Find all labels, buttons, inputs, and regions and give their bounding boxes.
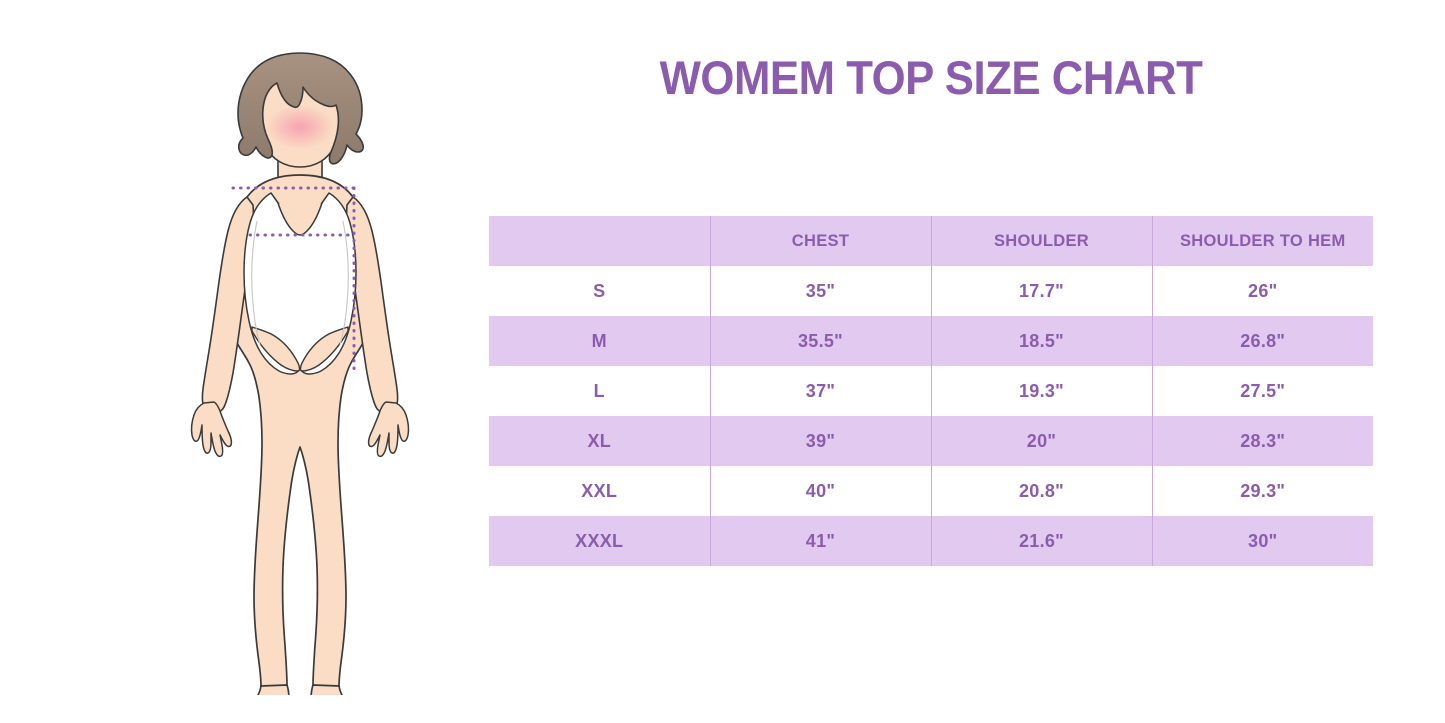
- cell-shoulder: 20.8": [931, 466, 1152, 516]
- header-cell-shoulder-to-hem: SHOULDER TO HEM: [1152, 216, 1373, 266]
- cell-shoulder: 17.7": [931, 266, 1152, 316]
- cell-chest: 39": [710, 416, 931, 466]
- cell-shoulder: 19.3": [931, 366, 1152, 416]
- left-hand-shape: [192, 402, 232, 456]
- size-chart-table-container: CHEST SHOULDER SHOULDER TO HEM S 35" 17.…: [489, 216, 1373, 566]
- header-cell-chest: CHEST: [710, 216, 931, 266]
- right-hand-shape: [369, 402, 409, 456]
- cell-shoulder-to-hem: 26.8": [1152, 316, 1373, 366]
- table-header-row: CHEST SHOULDER SHOULDER TO HEM: [489, 216, 1373, 266]
- cell-size: L: [489, 366, 710, 416]
- table-row: S 35" 17.7" 26": [489, 266, 1373, 316]
- cell-chest: 35.5": [710, 316, 931, 366]
- cell-shoulder-to-hem: 28.3": [1152, 416, 1373, 466]
- cell-chest: 35": [710, 266, 931, 316]
- cell-size: XL: [489, 416, 710, 466]
- figure-panel: SHOULDER CHEST SHOULDER TO HEM: [0, 0, 480, 723]
- cheek-blush: [266, 105, 334, 149]
- table-row: XXL 40" 20.8" 29.3": [489, 466, 1373, 516]
- table-row: XXXL 41" 21.6" 30": [489, 516, 1373, 566]
- right-foot-shape: [311, 685, 357, 695]
- cell-shoulder: 21.6": [931, 516, 1152, 566]
- left-foot-shape: [243, 685, 289, 695]
- cell-size: XXL: [489, 466, 710, 516]
- cell-shoulder-to-hem: 30": [1152, 516, 1373, 566]
- cell-size: M: [489, 316, 710, 366]
- header-cell-shoulder: SHOULDER: [931, 216, 1152, 266]
- header-cell-size: [489, 216, 710, 266]
- cell-shoulder-to-hem: 27.5": [1152, 366, 1373, 416]
- cell-chest: 40": [710, 466, 931, 516]
- female-body-measurement-figure: [150, 45, 450, 695]
- figure-body-group: [192, 53, 409, 695]
- table-row: XL 39" 20" 28.3": [489, 416, 1373, 466]
- cell-shoulder: 18.5": [931, 316, 1152, 366]
- table-row: M 35.5" 18.5" 26.8": [489, 316, 1373, 366]
- cell-chest: 41": [710, 516, 931, 566]
- cell-chest: 37": [710, 366, 931, 416]
- cell-shoulder-to-hem: 26": [1152, 266, 1373, 316]
- cell-size: XXXL: [489, 516, 710, 566]
- cell-shoulder: 20": [931, 416, 1152, 466]
- table-row: L 37" 19.3" 27.5": [489, 366, 1373, 416]
- page-title: WOMEM TOP SIZE CHART: [520, 50, 1342, 105]
- cell-shoulder-to-hem: 29.3": [1152, 466, 1373, 516]
- cell-size: S: [489, 266, 710, 316]
- size-chart-table: CHEST SHOULDER SHOULDER TO HEM S 35" 17.…: [489, 216, 1373, 566]
